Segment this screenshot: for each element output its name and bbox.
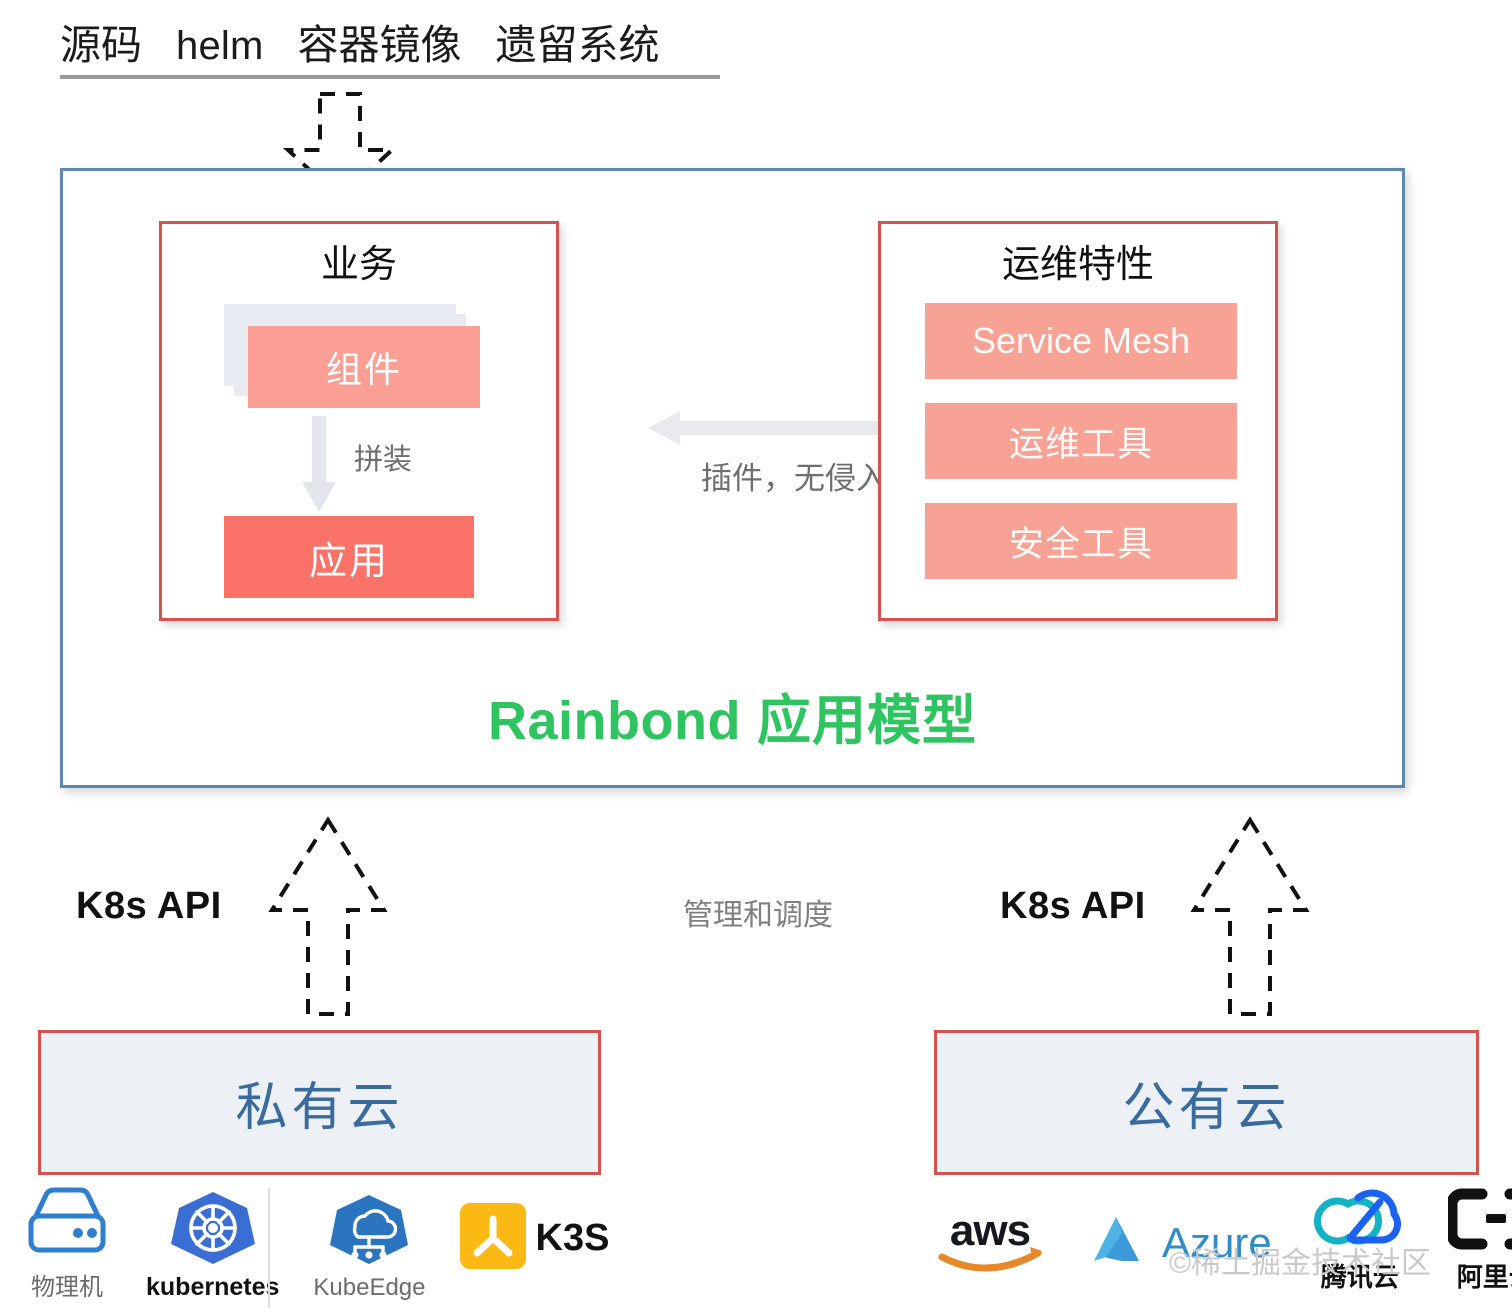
ops-item-security-tools: 安全工具 <box>925 503 1237 579</box>
private-cloud-label: 私有云 <box>235 1065 403 1140</box>
assemble-label: 拼装 <box>354 436 412 478</box>
kubernetes-icon <box>167 1190 259 1271</box>
ops-features-box: 运维特性 Service Mesh 运维工具 安全工具 <box>878 221 1278 621</box>
ops-features-box-title: 运维特性 <box>881 246 1275 284</box>
diagram-canvas: 源码 helm 容器镜像 遗留系统 业务 组件 拼装 应用 <box>0 0 1512 1312</box>
source-item-source-code: 源码 <box>60 22 142 69</box>
ops-item-label: 运维工具 <box>1009 416 1153 467</box>
model-title-brand: Rainbond <box>488 691 741 751</box>
logo-azure: Azure <box>1092 1213 1272 1294</box>
source-item-legacy-system: 遗留系统 <box>496 22 660 69</box>
logo-caption: Azure <box>1162 1219 1272 1267</box>
k8s-api-up-arrow-left-icon <box>268 818 388 1018</box>
kubeedge-icon <box>325 1193 413 1272</box>
k8s-api-label-left: K8s API <box>76 885 222 928</box>
ops-item-label: Service Mesh <box>972 320 1190 362</box>
logo-caption: KubeEdge <box>313 1274 425 1302</box>
logo-caption: kubernetes <box>146 1273 279 1302</box>
public-cloud-label: 公有云 <box>1122 1065 1290 1140</box>
k8s-api-label-right: K8s API <box>1000 885 1146 928</box>
public-cloud-logo-row: aws Azure <box>930 1186 1512 1294</box>
logo-alibaba-cloud: 阿里云 <box>1448 1188 1512 1294</box>
business-box: 业务 组件 拼装 应用 <box>159 221 559 621</box>
logo-caption: K3S <box>536 1217 610 1260</box>
model-title: Rainbond 应用模型 <box>63 676 1402 755</box>
business-box-title: 业务 <box>162 246 556 284</box>
schedule-label: 管理和调度 <box>618 890 898 934</box>
ops-item-ops-tools: 运维工具 <box>925 403 1237 479</box>
alibaba-cloud-icon <box>1448 1188 1512 1255</box>
source-item-container-image: 容器镜像 <box>298 22 462 69</box>
logo-caption: 腾讯云 <box>1321 1257 1399 1294</box>
logo-kubernetes: kubernetes <box>146 1190 279 1302</box>
ops-item-label: 安全工具 <box>1009 516 1153 567</box>
k8s-api-up-arrow-right-icon <box>1190 818 1310 1018</box>
model-title-suffix: 应用模型 <box>741 691 977 751</box>
logo-server: 物理机 <box>22 1186 112 1302</box>
logo-caption: 物理机 <box>31 1267 103 1302</box>
rainbond-model-container: 业务 组件 拼装 应用 插件，无侵入 运维特性 <box>60 168 1405 788</box>
component-label: 组件 <box>326 341 402 393</box>
assemble-down-arrow-icon <box>302 416 336 514</box>
logo-row-divider <box>268 1188 270 1308</box>
public-cloud-box: 公有云 <box>934 1030 1479 1175</box>
private-cloud-logo-row: 物理机 <box>22 1186 609 1302</box>
ops-item-service-mesh: Service Mesh <box>925 303 1237 379</box>
logo-caption: 阿里云 <box>1457 1257 1512 1294</box>
logo-tencent-cloud: 腾讯云 <box>1314 1186 1406 1294</box>
tencent-cloud-icon <box>1314 1186 1406 1255</box>
aws-icon: aws <box>930 1203 1050 1280</box>
application-label: 应用 <box>309 530 389 585</box>
source-item-helm: helm <box>176 23 264 69</box>
svg-text:aws: aws <box>950 1206 1030 1255</box>
component-card: 组件 <box>248 326 480 408</box>
logo-kubeedge: KubeEdge <box>313 1193 425 1302</box>
logo-aws: aws <box>930 1203 1050 1294</box>
application-card: 应用 <box>224 516 474 598</box>
azure-icon <box>1092 1213 1152 1272</box>
private-cloud-box: 私有云 <box>38 1030 601 1175</box>
server-icon <box>22 1186 112 1265</box>
k3s-icon <box>460 1203 526 1274</box>
logo-k3s: K3S <box>460 1203 610 1302</box>
source-inputs-row: 源码 helm 容器镜像 遗留系统 <box>60 22 720 79</box>
